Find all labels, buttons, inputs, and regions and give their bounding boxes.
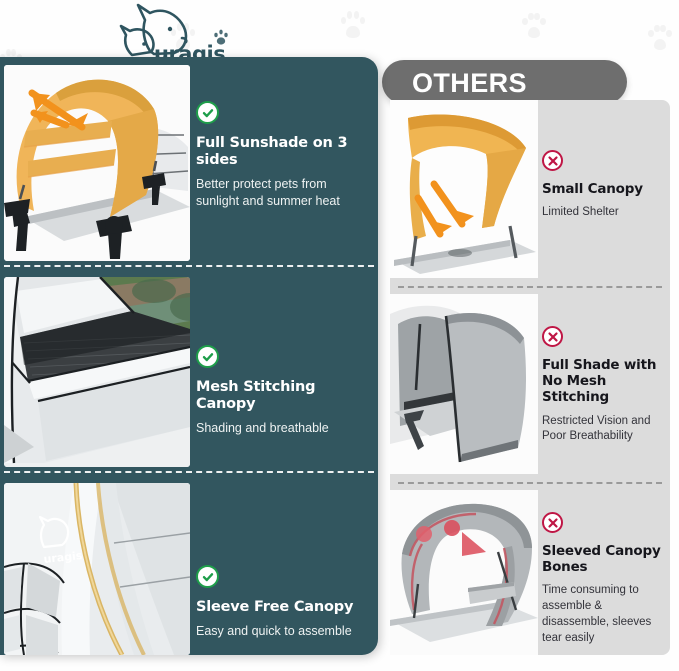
others-divider-2 [398,482,662,484]
brand-divider-2 [4,471,374,473]
others-label: OTHERS [412,68,527,99]
paw-print-icon [648,24,672,52]
check-circle-icon [196,565,219,588]
small-arched-canopy-photo [390,100,538,278]
brand-divider-1 [4,265,374,267]
brand-row-2-content: Mesh Stitching Canopy Shading and breath… [196,273,372,437]
brand-row-1: Full Sunshade on 3 sides Better protect … [0,61,378,257]
check-circle-icon [196,101,219,124]
brand-row-3: uragis Sleeve Free Canopy Easy and quick… [0,479,378,651]
paw-print-icon [522,12,546,40]
others-row-3-title: Sleeved Canopy Bones [542,543,668,575]
comparison-infographic: uragis OTHERS [0,0,679,671]
brand-row-3-content: Sleeve Free Canopy Easy and quick to ass… [196,479,372,640]
brand-row-3-title: Sleeve Free Canopy [196,599,372,616]
others-row-2-subtitle: Restricted Vision and Poor Breathability [542,414,668,446]
x-circle-icon [542,150,563,171]
others-panel: Small Canopy Limited Shelter [390,100,670,655]
brand-row-1-title: Full Sunshade on 3 sides [196,135,372,169]
brand-row-2-title: Mesh Stitching Canopy [196,379,372,413]
sleeve-free-pole-closeup-photo: uragis [4,483,190,655]
others-row-1: Small Canopy Limited Shelter [390,100,670,278]
others-divider-1 [398,286,662,288]
check-circle-icon [196,345,219,368]
others-header-badge: OTHERS [382,60,627,104]
x-circle-icon [542,326,563,347]
brand-row-2: Mesh Stitching Canopy Shading and breath… [0,273,378,463]
others-row-3-subtitle: Time consuming to assemble & disassemble… [542,583,668,646]
x-circle-icon [542,512,563,533]
solid-gray-canopy-flap-photo [390,294,538,474]
others-row-3: Sleeved Canopy Bones Time consuming to a… [390,490,670,655]
mesh-stitching-closeup-photo [4,277,190,467]
others-row-2-title: Full Shade with No Mesh Stitching [542,357,668,406]
others-row-1-subtitle: Limited Shelter [542,205,668,221]
others-row-1-content: Small Canopy Limited Shelter [542,100,668,221]
sleeved-canopy-bones-photo [390,490,538,655]
others-row-3-content: Sleeved Canopy Bones Time consuming to a… [542,490,668,647]
orange-canopy-elevated-bed-photo [4,65,190,261]
brand-row-2-subtitle: Shading and breathable [196,420,372,437]
others-row-2: Full Shade with No Mesh Stitching Restri… [390,294,670,474]
brand-row-3-subtitle: Easy and quick to assemble [196,623,372,640]
brand-panel: Full Sunshade on 3 sides Better protect … [0,57,378,655]
others-row-1-title: Small Canopy [542,181,668,197]
paw-print-icon [340,10,366,40]
brand-row-1-subtitle: Better protect pets from sunlight and su… [196,176,372,210]
others-row-2-content: Full Shade with No Mesh Stitching Restri… [542,294,668,445]
brand-row-1-content: Full Sunshade on 3 sides Better protect … [196,61,372,210]
